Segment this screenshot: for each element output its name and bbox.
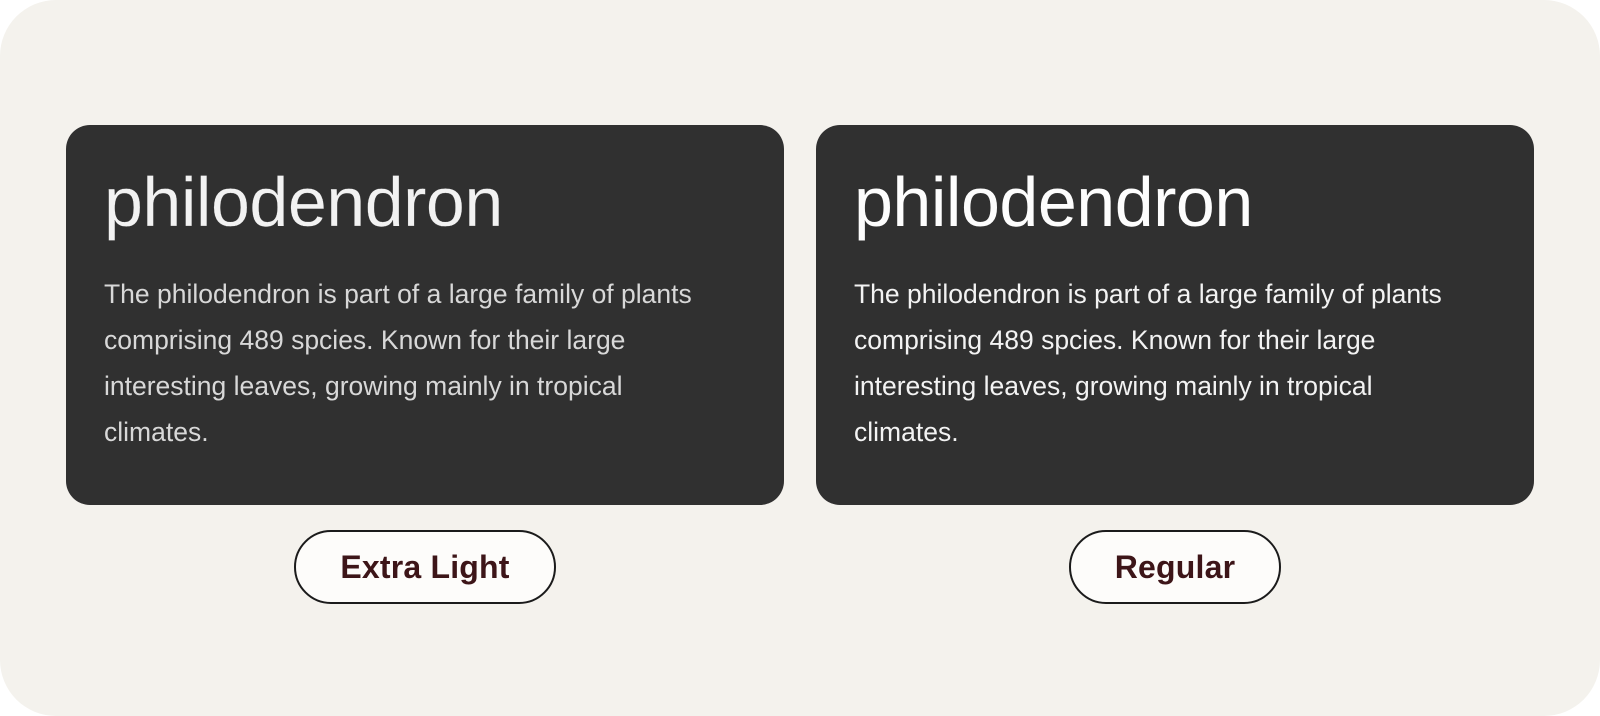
type-specimen-canvas: philodendron The philodendron is part of… [0, 0, 1600, 716]
card-heading: philodendron [854, 159, 1496, 237]
specimen-card-regular: philodendron The philodendron is part of… [816, 125, 1534, 505]
weight-label-button-regular[interactable]: Regular [1069, 530, 1282, 604]
card-body-text: The philodendron is part of a large fami… [854, 237, 1464, 455]
specimen-regular: philodendron The philodendron is part of… [816, 125, 1534, 604]
card-body-text: The philodendron is part of a large fami… [104, 237, 714, 455]
card-heading: philodendron [104, 159, 746, 237]
specimen-extra-light: philodendron The philodendron is part of… [66, 125, 784, 604]
weight-label-button-extra-light[interactable]: Extra Light [294, 530, 555, 604]
specimen-card-extra-light: philodendron The philodendron is part of… [66, 125, 784, 505]
specimen-row: philodendron The philodendron is part of… [0, 0, 1600, 716]
